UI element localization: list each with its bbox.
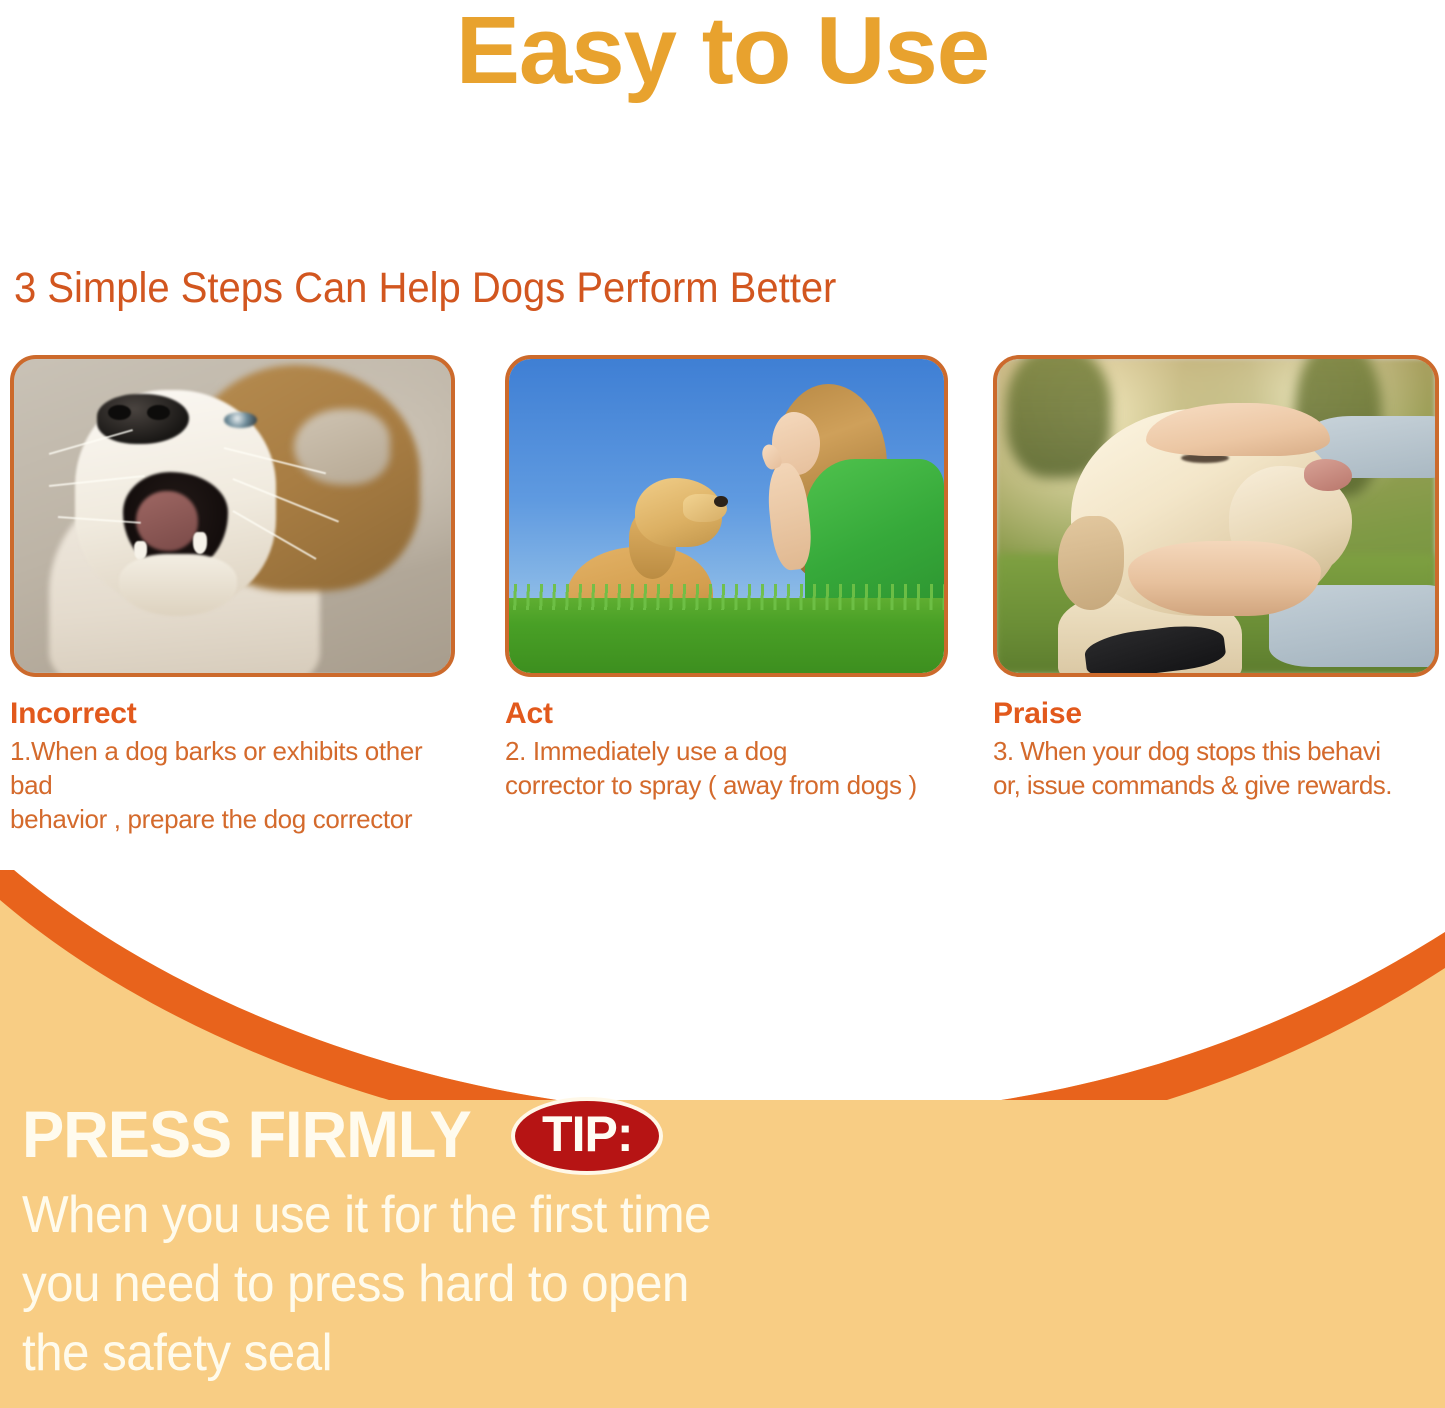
step-heading: Praise bbox=[993, 697, 1445, 731]
tip-section: PRESS FIRMLY TIP: When you use it for th… bbox=[0, 1085, 1445, 1408]
praising-dog-photo-inner bbox=[997, 359, 1435, 673]
owner-commanding-dog-photo-inner bbox=[509, 359, 944, 673]
praising-dog-photo bbox=[993, 355, 1439, 677]
step-heading: Act bbox=[505, 697, 963, 731]
steps-row: Incorrect 1.When a dog barks or exhibits… bbox=[0, 355, 1445, 815]
page-title: Easy to Use bbox=[0, 0, 1445, 106]
step-card-3: Praise 3. When your dog stops this behav… bbox=[993, 355, 1445, 802]
step-body-text: 3. When your dog stops this behavi or, i… bbox=[993, 734, 1445, 802]
infographic-page: Easy to Use 3 Simple Steps Can Help Dogs… bbox=[0, 0, 1445, 1408]
dog-nostril-left bbox=[108, 405, 131, 421]
tip-badge: TIP: bbox=[511, 1097, 663, 1175]
grass-foreground bbox=[509, 598, 944, 673]
press-firmly-headline: PRESS FIRMLY bbox=[22, 1097, 471, 1171]
hand-under-chin-shape bbox=[1128, 541, 1321, 616]
labrador-nose-shape bbox=[1304, 459, 1352, 490]
step-body-text: 2. Immediately use a dog corrector to sp… bbox=[505, 734, 963, 802]
tip-body-text: When you use it for the first time you n… bbox=[22, 1181, 811, 1388]
dog-chin-shape bbox=[119, 554, 237, 617]
wave-divider bbox=[0, 840, 1445, 1100]
step-body-text: 1.When a dog barks or exhibits other bad… bbox=[10, 734, 468, 836]
step-card-2: Act 2. Immediately use a dog corrector t… bbox=[505, 355, 963, 802]
tip-badge-label: TIP: bbox=[542, 1109, 632, 1159]
dog-ear-shape bbox=[294, 409, 390, 484]
press-firmly-row: PRESS FIRMLY TIP: bbox=[22, 1093, 663, 1175]
top-section: Easy to Use 3 Simple Steps Can Help Dogs… bbox=[0, 0, 1445, 870]
step-heading: Incorrect bbox=[10, 697, 468, 731]
section-subtitle: 3 Simple Steps Can Help Dogs Perform Bet… bbox=[14, 263, 836, 313]
step-card-1: Incorrect 1.When a dog barks or exhibits… bbox=[10, 355, 468, 836]
owner-commanding-dog-photo bbox=[505, 355, 948, 677]
dog-eye-shape bbox=[224, 412, 257, 428]
barking-dog-photo bbox=[10, 355, 455, 677]
dog-nostril-right bbox=[147, 405, 170, 421]
dog-tooth-right bbox=[193, 532, 207, 554]
barking-dog-photo-inner bbox=[14, 359, 451, 673]
